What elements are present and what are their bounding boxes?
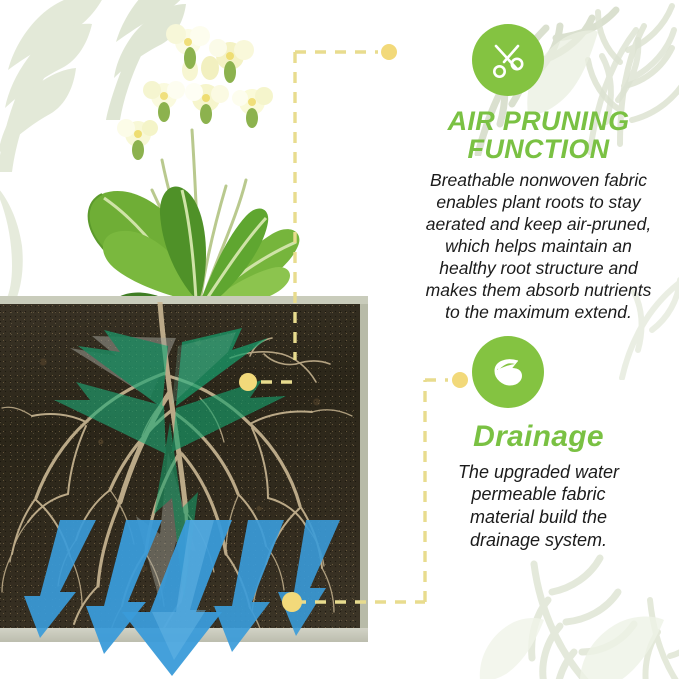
palm-leaf-icon [490,540,679,679]
water-drop-icon [488,352,528,392]
leaf-shape-icon [476,614,546,679]
body-line: which helps maintain an [398,235,679,257]
body-line: Breathable nonwoven fabric [398,169,679,191]
feature-drainage: Drainage The upgraded water permeable fa… [398,336,679,551]
water-drainage-arrows [0,520,380,679]
body-line: permeable fabric [398,483,679,506]
drainage-body: The upgraded water permeable fabric mate… [398,461,679,552]
body-line: The upgraded water [398,461,679,484]
leaf-shape-icon [576,612,666,679]
body-line: material build the [398,506,679,529]
body-line: drainage system. [398,529,679,552]
air-pruning-title: AIR PRUNING FUNCTION [398,108,679,163]
plant-root-illustration [0,0,380,679]
scissors-icon [487,39,529,81]
air-pruning-body: Breathable nonwoven fabric enables plant… [398,169,679,323]
feature-air-pruning: AIR PRUNING FUNCTION Breathable nonwoven… [398,24,679,323]
body-line: aerated and keep air-pruned, [398,213,679,235]
body-line: enables plant roots to stay [398,191,679,213]
air-pruning-badge [472,24,544,96]
body-line: to the maximum extend. [398,301,679,323]
drainage-badge [472,336,544,408]
primrose-plant-graphic [40,10,330,320]
body-line: healthy root structure and [398,257,679,279]
drainage-title: Drainage [398,422,679,453]
air-pruning-title-line2: FUNCTION [398,136,679,164]
air-pruning-title-line1: AIR PRUNING [398,108,679,136]
callout-dot-top [381,44,397,60]
infographic-canvas: AIR PRUNING FUNCTION Breathable nonwoven… [0,0,679,679]
body-line: makes them absorb nutrients [398,279,679,301]
